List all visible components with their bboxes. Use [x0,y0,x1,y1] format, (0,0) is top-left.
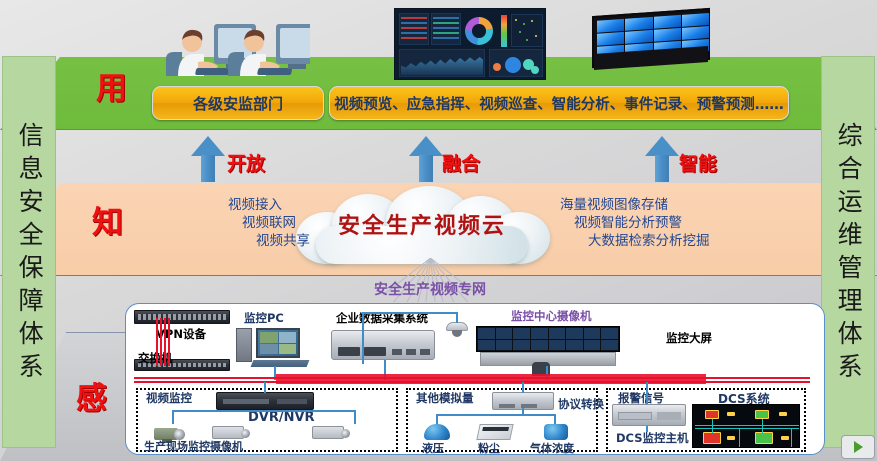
bus-line [794,381,810,383]
monitoring-big-screen-label: 监控大屏 [666,330,712,346]
operators-at-computers-illustration [148,4,310,80]
bus-line [156,318,158,366]
keyboard-icon [251,360,310,367]
connector-line [646,382,648,404]
gas-sensor-icon [544,424,568,440]
monitoring-center-camera-label: 监控中心摄像机 [511,308,592,324]
sense-layer-device-panel: VPN设备 交换机 监控PC 企业数据采集系统 [125,303,825,455]
sensor-label-hydraulic: 液压 [422,440,444,456]
connector-line [522,382,524,393]
connector-line [264,382,266,393]
connector-line [266,410,356,412]
connector-line [354,410,356,424]
sensor-label-dust: 粉尘 [478,440,500,456]
dcs-host-label: DCS监控主机 [616,430,688,446]
cloud-cap-right-2: 视频智能分析预警 [574,214,790,232]
up-arrow-open [191,136,225,182]
main-bus-line [276,374,706,384]
architecture-diagram: 信息安全保障体系 综合运维管理体系 用 知 感 [0,0,877,461]
video-wall-illustration [592,8,718,78]
cloud-cap-right-3: 大数据检索分析挖掘 [588,232,790,250]
connector-line [362,312,364,364]
private-network-label: 安全生产视频专网 [300,279,560,299]
connector-line [172,410,174,424]
connector-line [172,410,268,412]
arrow-label-converge: 融合 [442,149,480,176]
vpn-device-icon [134,310,230,324]
arrow-label-intelligent: 智能 [679,149,717,176]
cloud-cap-right-1: 海量视频图像存储 [560,196,790,214]
cloud-left-capabilities: 视频接入 视频联网 视频共享 [136,196,282,250]
corner-badge-icon[interactable] [841,435,875,459]
connector-line [646,426,648,432]
cloud-cap-left-1: 视频接入 [136,196,282,214]
up-arrow-intelligent [645,136,679,182]
dome-camera-lens-icon [452,330,462,337]
sensor-label-gas: 气体浓度 [530,440,574,456]
connector-line [522,408,524,416]
layer-label-know: 知 [92,197,123,242]
dvr-nvr-label: DVR/NVR [248,410,315,425]
cloud-cap-left-3: 视频共享 [136,232,310,250]
pc-tower-icon [236,328,252,362]
arrow-glyph-icon [854,441,863,453]
data-collection-server-icon [331,330,435,360]
layer-label-sense: 感 [76,373,107,418]
hydraulic-sensor-icon [424,424,450,440]
pc-monitor-icon [256,328,300,358]
video-cloud-shape: 安全生产视频云 [286,186,558,264]
video-monitoring-title: 视频监控 [146,390,192,406]
supervision-department-box[interactable]: 各级安监部门 [152,86,324,120]
bus-line [164,318,166,366]
dvr-nvr-icon [216,392,314,410]
layer-label-use: 用 [96,63,127,108]
site-camera-caption: 生产现场监控摄像机 [144,438,243,454]
box-camera-icon [312,426,344,439]
protocol-converter-label: 协议转换 [558,396,604,412]
control-room-video-wall-icon [476,326,620,352]
dcs-system-screen-icon [692,404,800,448]
application-functions-box[interactable]: 视频预览、应急指挥、视频巡查、智能分析、事件记录、预警预测…… [329,86,789,120]
dcs-host-icon [612,404,686,426]
cloud-title: 安全生产视频云 [286,208,558,240]
bus-line [794,377,810,379]
dust-sensor-icon [476,424,513,440]
connector-line [436,414,556,416]
right-side-panel-operations-management: 综合运维管理体系 [821,56,875,448]
analytics-dashboard-illustration [394,8,546,80]
cloud-cap-left-2: 视频联网 [136,214,296,232]
bus-line [168,318,170,366]
left-side-panel-information-security: 信息安全保障体系 [2,56,56,448]
arrow-label-open: 开放 [227,149,265,176]
bus-line [160,318,162,366]
analog-signals-title: 其他模拟量 [416,390,474,406]
connector-line [362,312,458,314]
monitoring-pc-label: 监控PC [244,310,284,326]
up-arrow-converge [409,136,443,182]
cloud-right-capabilities: 海量视频图像存储 视频智能分析预警 大数据检索分析挖掘 [560,196,790,250]
